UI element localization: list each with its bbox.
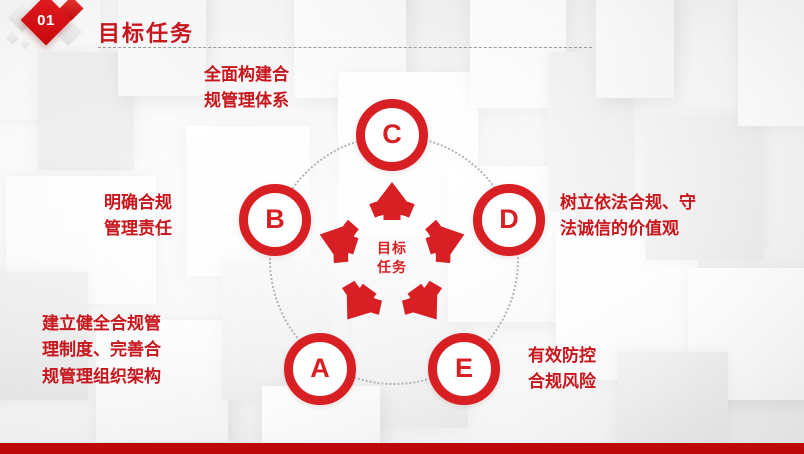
header-badge: 01: [6, 0, 102, 66]
callout-b: 明确合规 管理责任: [104, 190, 214, 243]
callout-e: 有效防控 合规风险: [528, 343, 658, 396]
callout-c: 全面构建合 规管理体系: [204, 62, 339, 115]
radial-diagram: 目标 任务 C B D A E: [222, 88, 562, 428]
page-title: 目标任务: [98, 16, 194, 48]
title-divider: [98, 47, 592, 48]
diagram-node-e[interactable]: E: [428, 333, 500, 405]
badge-number: 01: [28, 2, 64, 38]
decorative-diamond-gray-4: [21, 40, 31, 50]
node-letter-e: E: [455, 355, 473, 382]
node-letter-c: C: [382, 121, 402, 148]
node-letter-b: B: [265, 206, 285, 233]
diagram-node-c[interactable]: C: [356, 99, 428, 171]
diagram-node-b[interactable]: B: [239, 184, 311, 256]
decorative-diamond-gray-3: [6, 32, 19, 45]
hub-label-line2: 任务: [377, 258, 407, 277]
hub-label-line1: 目标: [377, 239, 407, 258]
hub-center-label: 目标 任务: [347, 213, 437, 303]
slide-canvas: 01 目标任务: [0, 0, 804, 454]
diagram-hub: 目标 任务: [313, 179, 471, 337]
node-letter-a: A: [310, 355, 330, 382]
diagram-node-a[interactable]: A: [284, 333, 356, 405]
node-letter-d: D: [499, 206, 519, 233]
footer-bar: [0, 443, 804, 454]
diagram-node-d[interactable]: D: [473, 184, 545, 256]
callout-a: 建立健全合规管 理制度、完善合 规管理组织架构: [42, 311, 227, 390]
callout-d: 树立依法合规、守 法诚信的价值观: [560, 190, 735, 243]
